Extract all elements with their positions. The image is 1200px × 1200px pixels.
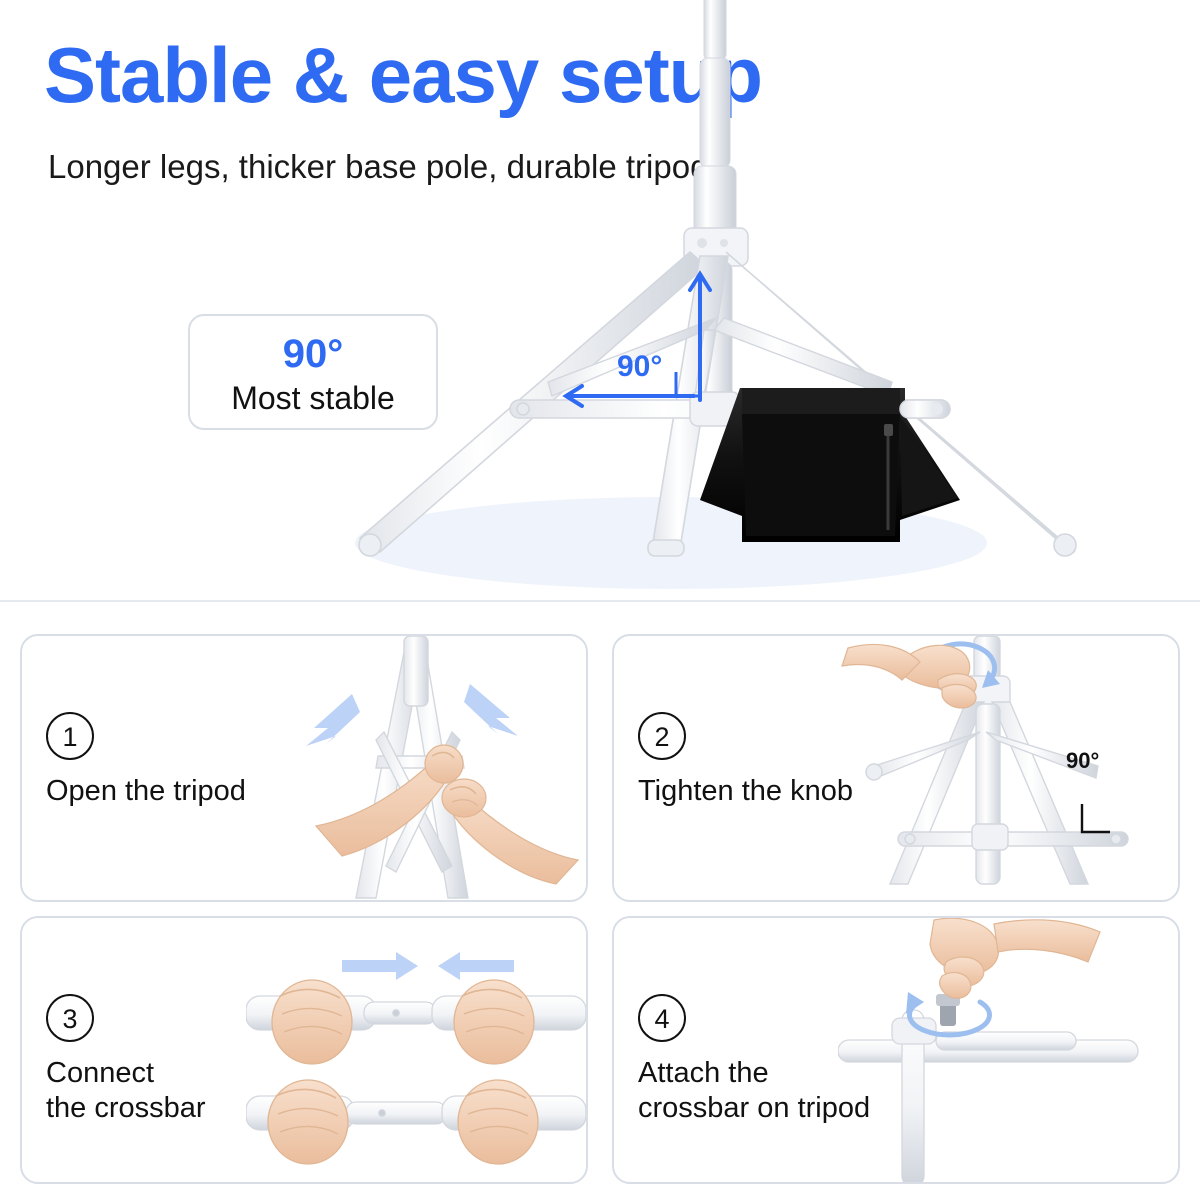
step-3-text: Connect the crossbar bbox=[46, 1056, 346, 1127]
step-card-2[interactable]: 90° 2 Tighten the knob bbox=[612, 634, 1180, 902]
step-1-text: Open the tripod bbox=[46, 774, 346, 809]
hero-angle-label: 90° bbox=[617, 350, 662, 384]
step-4-text: Attach the crossbar on tripod bbox=[638, 1056, 938, 1127]
step-1-illustration bbox=[256, 636, 586, 902]
step-2-illustration bbox=[838, 636, 1178, 902]
step-1-number: 1 bbox=[46, 712, 94, 760]
callout-angle-value: 90° bbox=[190, 332, 436, 377]
step-3-number: 3 bbox=[46, 994, 94, 1042]
step-4-number: 4 bbox=[638, 994, 686, 1042]
step-card-3[interactable]: 3 Connect the crossbar bbox=[20, 916, 588, 1184]
section-divider bbox=[0, 600, 1200, 602]
steps-grid: 1 Open the tripod bbox=[0, 604, 1200, 1200]
step-3-illustration bbox=[246, 918, 586, 1184]
step-3-text-line-2: the crossbar bbox=[46, 1091, 346, 1126]
callout-label: Most stable bbox=[190, 380, 436, 417]
step-4-text-line-2: crossbar on tripod bbox=[638, 1091, 938, 1126]
tripod-illustration bbox=[0, 0, 1200, 600]
step-4-illustration bbox=[838, 918, 1178, 1184]
step-card-1[interactable]: 1 Open the tripod bbox=[20, 634, 588, 902]
hero-section: Stable & easy setup Longer legs, thicker… bbox=[0, 0, 1200, 600]
step-2-number: 2 bbox=[638, 712, 686, 760]
stability-callout: 90° Most stable bbox=[188, 314, 438, 430]
step-2-angle-label: 90° bbox=[1066, 748, 1099, 774]
step-4-text-line-1: Attach the bbox=[638, 1056, 938, 1091]
step-card-4[interactable]: 4 Attach the crossbar on tripod bbox=[612, 916, 1180, 1184]
step-3-text-line-1: Connect bbox=[46, 1056, 346, 1091]
step-2-text: Tighten the knob bbox=[638, 774, 938, 809]
